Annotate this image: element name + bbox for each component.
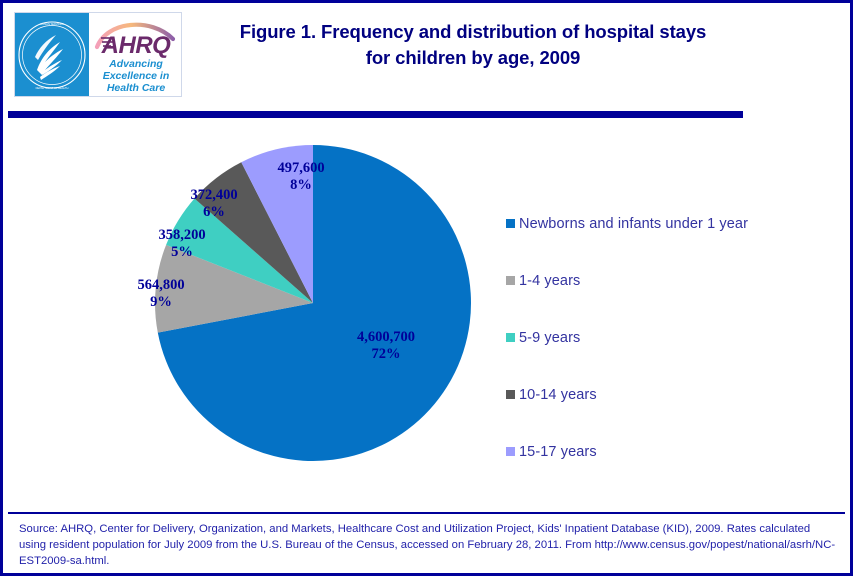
legend-item-15-17-years[interactable]: 15-17 years [506, 423, 826, 480]
hhs-seal-icon: · HUMAN SERVICES · DEPARTMENT OF HEALTH [15, 13, 89, 96]
chart-legend: Newborns and infants under 1 year 1-4 ye… [506, 195, 826, 480]
header-divider [8, 111, 743, 118]
pie-label-value: 497,600 [246, 160, 356, 177]
figure-title-line1: Figure 1. Frequency and distribution of … [193, 19, 753, 45]
legend-label: 5-9 years [519, 330, 580, 346]
legend-swatch-icon [506, 390, 515, 399]
svg-text:· HUMAN SERVICES ·: · HUMAN SERVICES · [39, 22, 66, 26]
pie-label-1-4: 564,800 9% [106, 277, 216, 310]
legend-item-newborns[interactable]: Newborns and infants under 1 year [506, 195, 826, 252]
pie-label-value: 358,200 [127, 227, 237, 244]
pie-label-15-17: 497,600 8% [246, 160, 356, 193]
legend-item-1-4-years[interactable]: 1-4 years [506, 252, 826, 309]
source-note: Source: AHRQ, Center for Delivery, Organ… [19, 521, 837, 569]
figure-page: · HUMAN SERVICES · DEPARTMENT OF HEALTH [0, 0, 853, 576]
pie-label-5-9: 358,200 5% [127, 227, 237, 260]
legend-swatch-icon [506, 447, 515, 456]
legend-item-10-14-years[interactable]: 10-14 years [506, 366, 826, 423]
pie-label-percent: 9% [106, 294, 216, 311]
pie-label-value: 4,600,700 [331, 329, 441, 346]
pie-label-percent: 8% [246, 177, 356, 194]
ahrq-wordmark: AHRQ Advancing Excellence in Health Care [89, 13, 181, 96]
ahrq-tagline-line3: Health Care [107, 82, 166, 94]
svg-text:DEPARTMENT OF HEALTH: DEPARTMENT OF HEALTH [36, 86, 69, 90]
pie-label-newborns: 4,600,700 72% [331, 329, 441, 362]
chart-area: 4,600,700 72% 564,800 9% 358,200 5% 372,… [3, 123, 850, 508]
pie-label-percent: 6% [159, 204, 269, 221]
svg-text:AHRQ: AHRQ [101, 32, 171, 59]
legend-swatch-icon [506, 333, 515, 342]
legend-label: 10-14 years [519, 387, 597, 403]
legend-swatch-icon [506, 219, 515, 228]
footer-divider [8, 512, 845, 514]
figure-header: · HUMAN SERVICES · DEPARTMENT OF HEALTH [3, 3, 850, 103]
figure-title-line2: for children by age, 2009 [193, 45, 753, 71]
ahrq-logo: · HUMAN SERVICES · DEPARTMENT OF HEALTH [14, 12, 182, 97]
ahrq-tagline-line1: Advancing [108, 58, 163, 70]
ahrq-tagline-line2: Excellence in [103, 70, 170, 82]
pie-chart: 4,600,700 72% 564,800 9% 358,200 5% 372,… [153, 143, 473, 463]
legend-item-5-9-years[interactable]: 5-9 years [506, 309, 826, 366]
legend-label: 1-4 years [519, 273, 580, 289]
pie-label-percent: 72% [331, 346, 441, 363]
pie-label-percent: 5% [127, 244, 237, 261]
legend-swatch-icon [506, 276, 515, 285]
legend-label: Newborns and infants under 1 year [519, 216, 748, 232]
pie-label-value: 564,800 [106, 277, 216, 294]
legend-label: 15-17 years [519, 444, 597, 460]
figure-title: Figure 1. Frequency and distribution of … [193, 19, 753, 70]
